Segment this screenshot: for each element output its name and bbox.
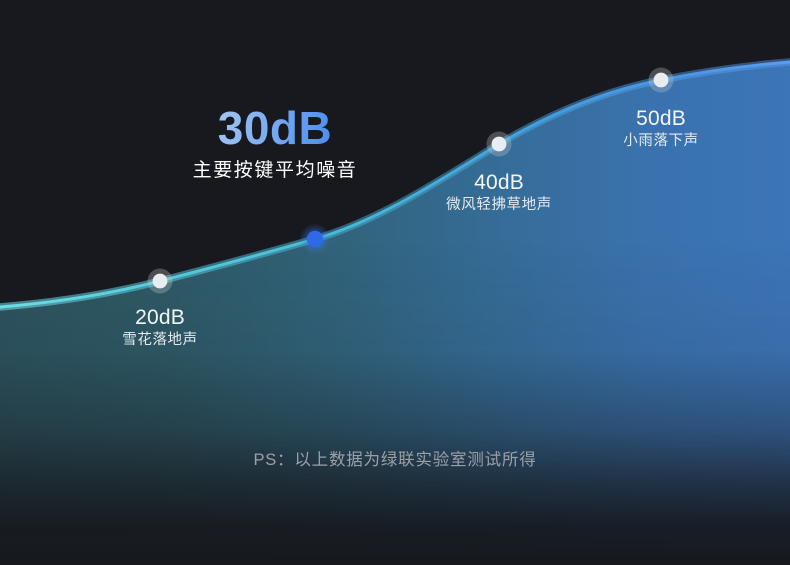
noise-level-infographic: 30dB 主要按键平均噪音 20dB 雪花落地声 40dB 微风轻拂草地声 50… — [0, 0, 790, 565]
noise-curve-chart — [0, 0, 790, 565]
main-callout: 30dB 主要按键平均噪音 — [155, 104, 395, 184]
data-point-30db-highlight[interactable] — [300, 224, 330, 254]
data-point-50db[interactable] — [649, 68, 674, 93]
curve-area-fill — [0, 62, 790, 565]
main-callout-desc: 主要按键平均噪音 — [155, 159, 395, 184]
data-point-40db[interactable] — [487, 132, 512, 157]
main-callout-value: 30dB — [155, 104, 395, 152]
footnote-text: PS：以上数据为绿联实验室测试所得 — [0, 446, 790, 470]
data-point-20db[interactable] — [148, 269, 173, 294]
